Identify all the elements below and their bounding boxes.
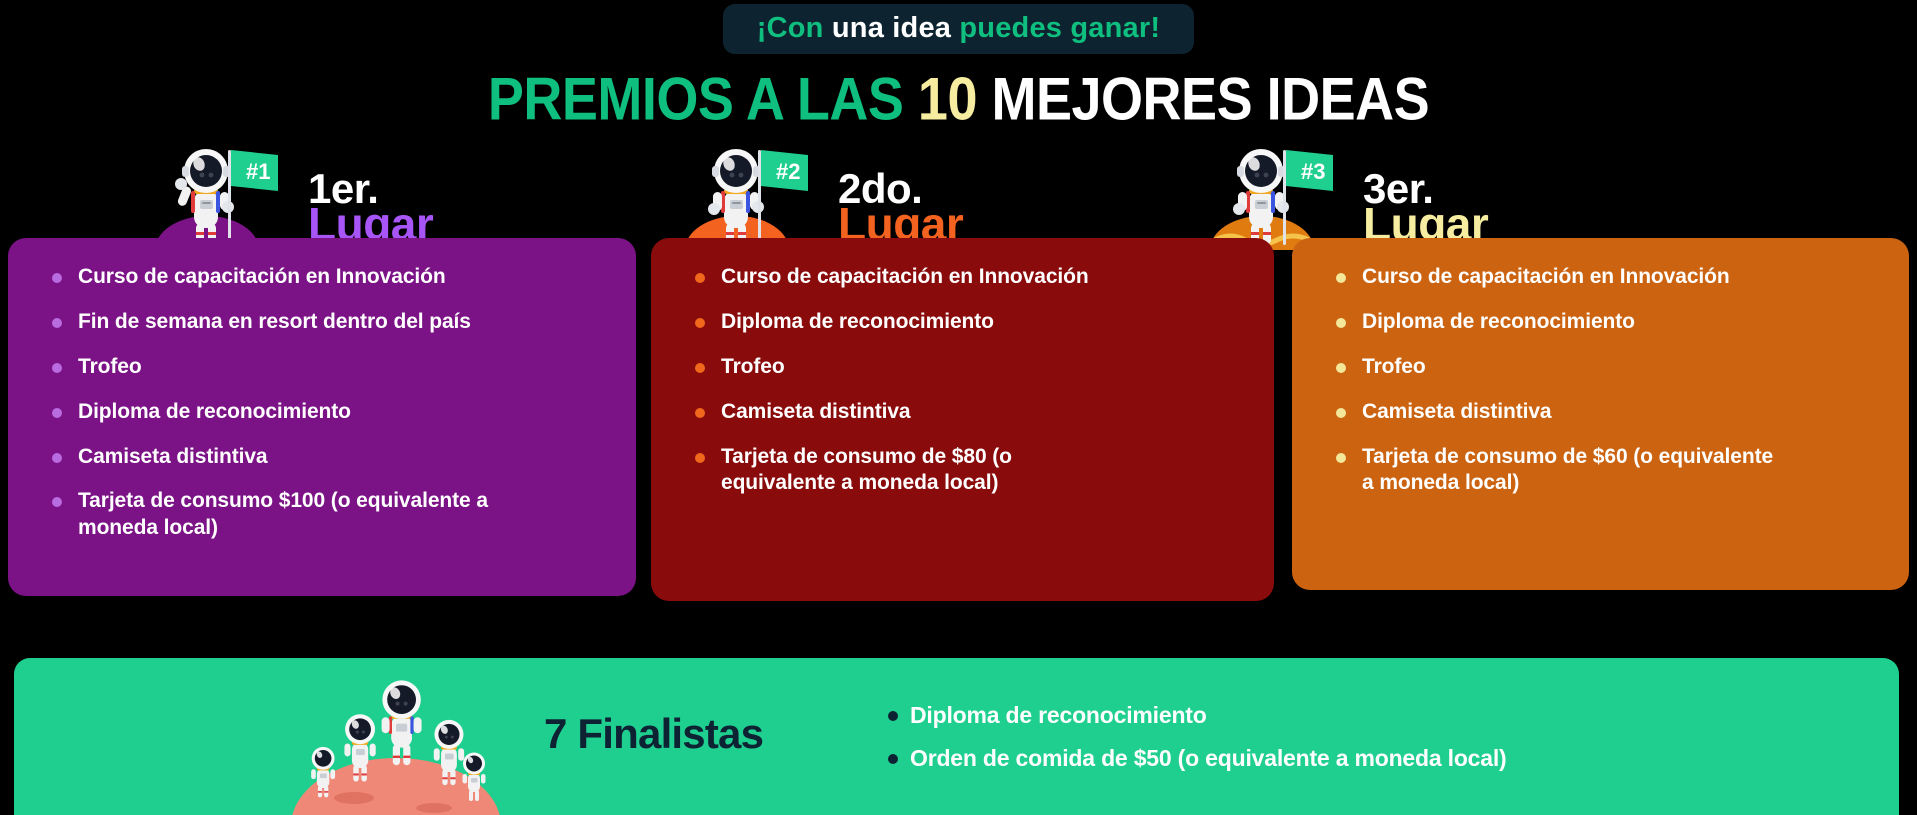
flag-number-1: #1: [246, 159, 270, 184]
prize-item: Curso de capacitación en Innovación: [48, 264, 610, 291]
badge-text-part1: ¡Con: [757, 12, 824, 44]
place-header-3: #3 3er. Lugar: [1205, 128, 1488, 250]
place-header-1: #1 1er. Lugar: [150, 128, 433, 250]
prize-list-3: Curso de capacitación en Innovación Dipl…: [1332, 264, 1883, 497]
prize-item: Trofeo: [1332, 354, 1883, 381]
prize-list-1: Curso de capacitación en Innovación Fin …: [48, 264, 610, 542]
prize-card-second-place: Curso de capacitación en Innovación Dipl…: [651, 238, 1274, 601]
title-white-part: MEJORES IDEAS: [992, 66, 1430, 133]
header: ¡Con una idea puedes ganar! PREMIOS A LA…: [0, 0, 1917, 125]
finalists-prize-item: Orden de comida de $50 (o equivalente a …: [886, 745, 1507, 772]
prize-item: Diploma de reconocimiento: [691, 309, 1248, 336]
astronaut-illustration-3: #3: [1205, 128, 1355, 250]
prize-item: Curso de capacitación en Innovación: [1332, 264, 1883, 291]
prize-card-first-place: Curso de capacitación en Innovación Fin …: [8, 238, 636, 596]
astronaut-group-icon: [284, 658, 514, 815]
badge-text-part3: puedes ganar!: [959, 12, 1160, 44]
title-green-part: PREMIOS A LAS: [488, 66, 904, 133]
place-header-2: #2 2do. Lugar: [680, 128, 963, 250]
finalists-prize-item: Diploma de reconocimiento: [886, 702, 1507, 729]
prize-item: Camiseta distintiva: [691, 399, 1248, 426]
astronaut-illustration-2: #2: [680, 128, 830, 250]
prize-item: Diploma de reconocimiento: [48, 399, 610, 426]
prize-item: Trofeo: [48, 354, 610, 381]
tagline-badge: ¡Con una idea puedes ganar!: [723, 4, 1194, 54]
prize-item: Camiseta distintiva: [1332, 399, 1883, 426]
prize-item: Tarjeta de consumo de $60 (o equivalente…: [1332, 444, 1782, 498]
prize-item: Camiseta distintiva: [48, 444, 610, 471]
prize-item: Diploma de reconocimiento: [1332, 309, 1883, 336]
prize-item: Tarjeta de consumo de $80 (o equivalente…: [691, 444, 1111, 498]
finalists-prize-list: Diploma de reconocimiento Orden de comid…: [886, 702, 1507, 788]
prize-cards: Curso de capacitación en Innovación Fin …: [0, 238, 1917, 648]
finalists-title: 7 Finalistas: [544, 710, 763, 758]
prize-item: Fin de semana en resort dentro del país: [48, 309, 610, 336]
prize-card-third-place: Curso de capacitación en Innovación Dipl…: [1292, 238, 1909, 590]
astronaut-flag-3-icon: #3: [1205, 128, 1355, 250]
place-headers-row: #1 1er. Lugar: [0, 128, 1917, 250]
page-title: PREMIOS A LAS 10 MEJORES IDEAS: [0, 68, 1917, 131]
title-number-part: 10: [918, 66, 977, 133]
astronaut-flag-1-icon: #1: [150, 128, 300, 250]
finalists-astronauts-illustration: [284, 658, 514, 815]
prize-item: Trofeo: [691, 354, 1248, 381]
prize-item: Curso de capacitación en Innovación: [691, 264, 1248, 291]
prize-item: Tarjeta de consumo $100 (o equivalente a…: [48, 488, 548, 542]
astronaut-illustration-1: #1: [150, 128, 300, 250]
astronaut-flag-2-icon: #2: [680, 128, 830, 250]
finalists-bar: 7 Finalistas Diploma de reconocimiento O…: [14, 658, 1899, 815]
badge-text-part2: una idea: [832, 12, 951, 44]
flag-number-3: #3: [1301, 159, 1325, 184]
flag-number-2: #2: [776, 159, 800, 184]
prize-list-2: Curso de capacitación en Innovación Dipl…: [691, 264, 1248, 497]
